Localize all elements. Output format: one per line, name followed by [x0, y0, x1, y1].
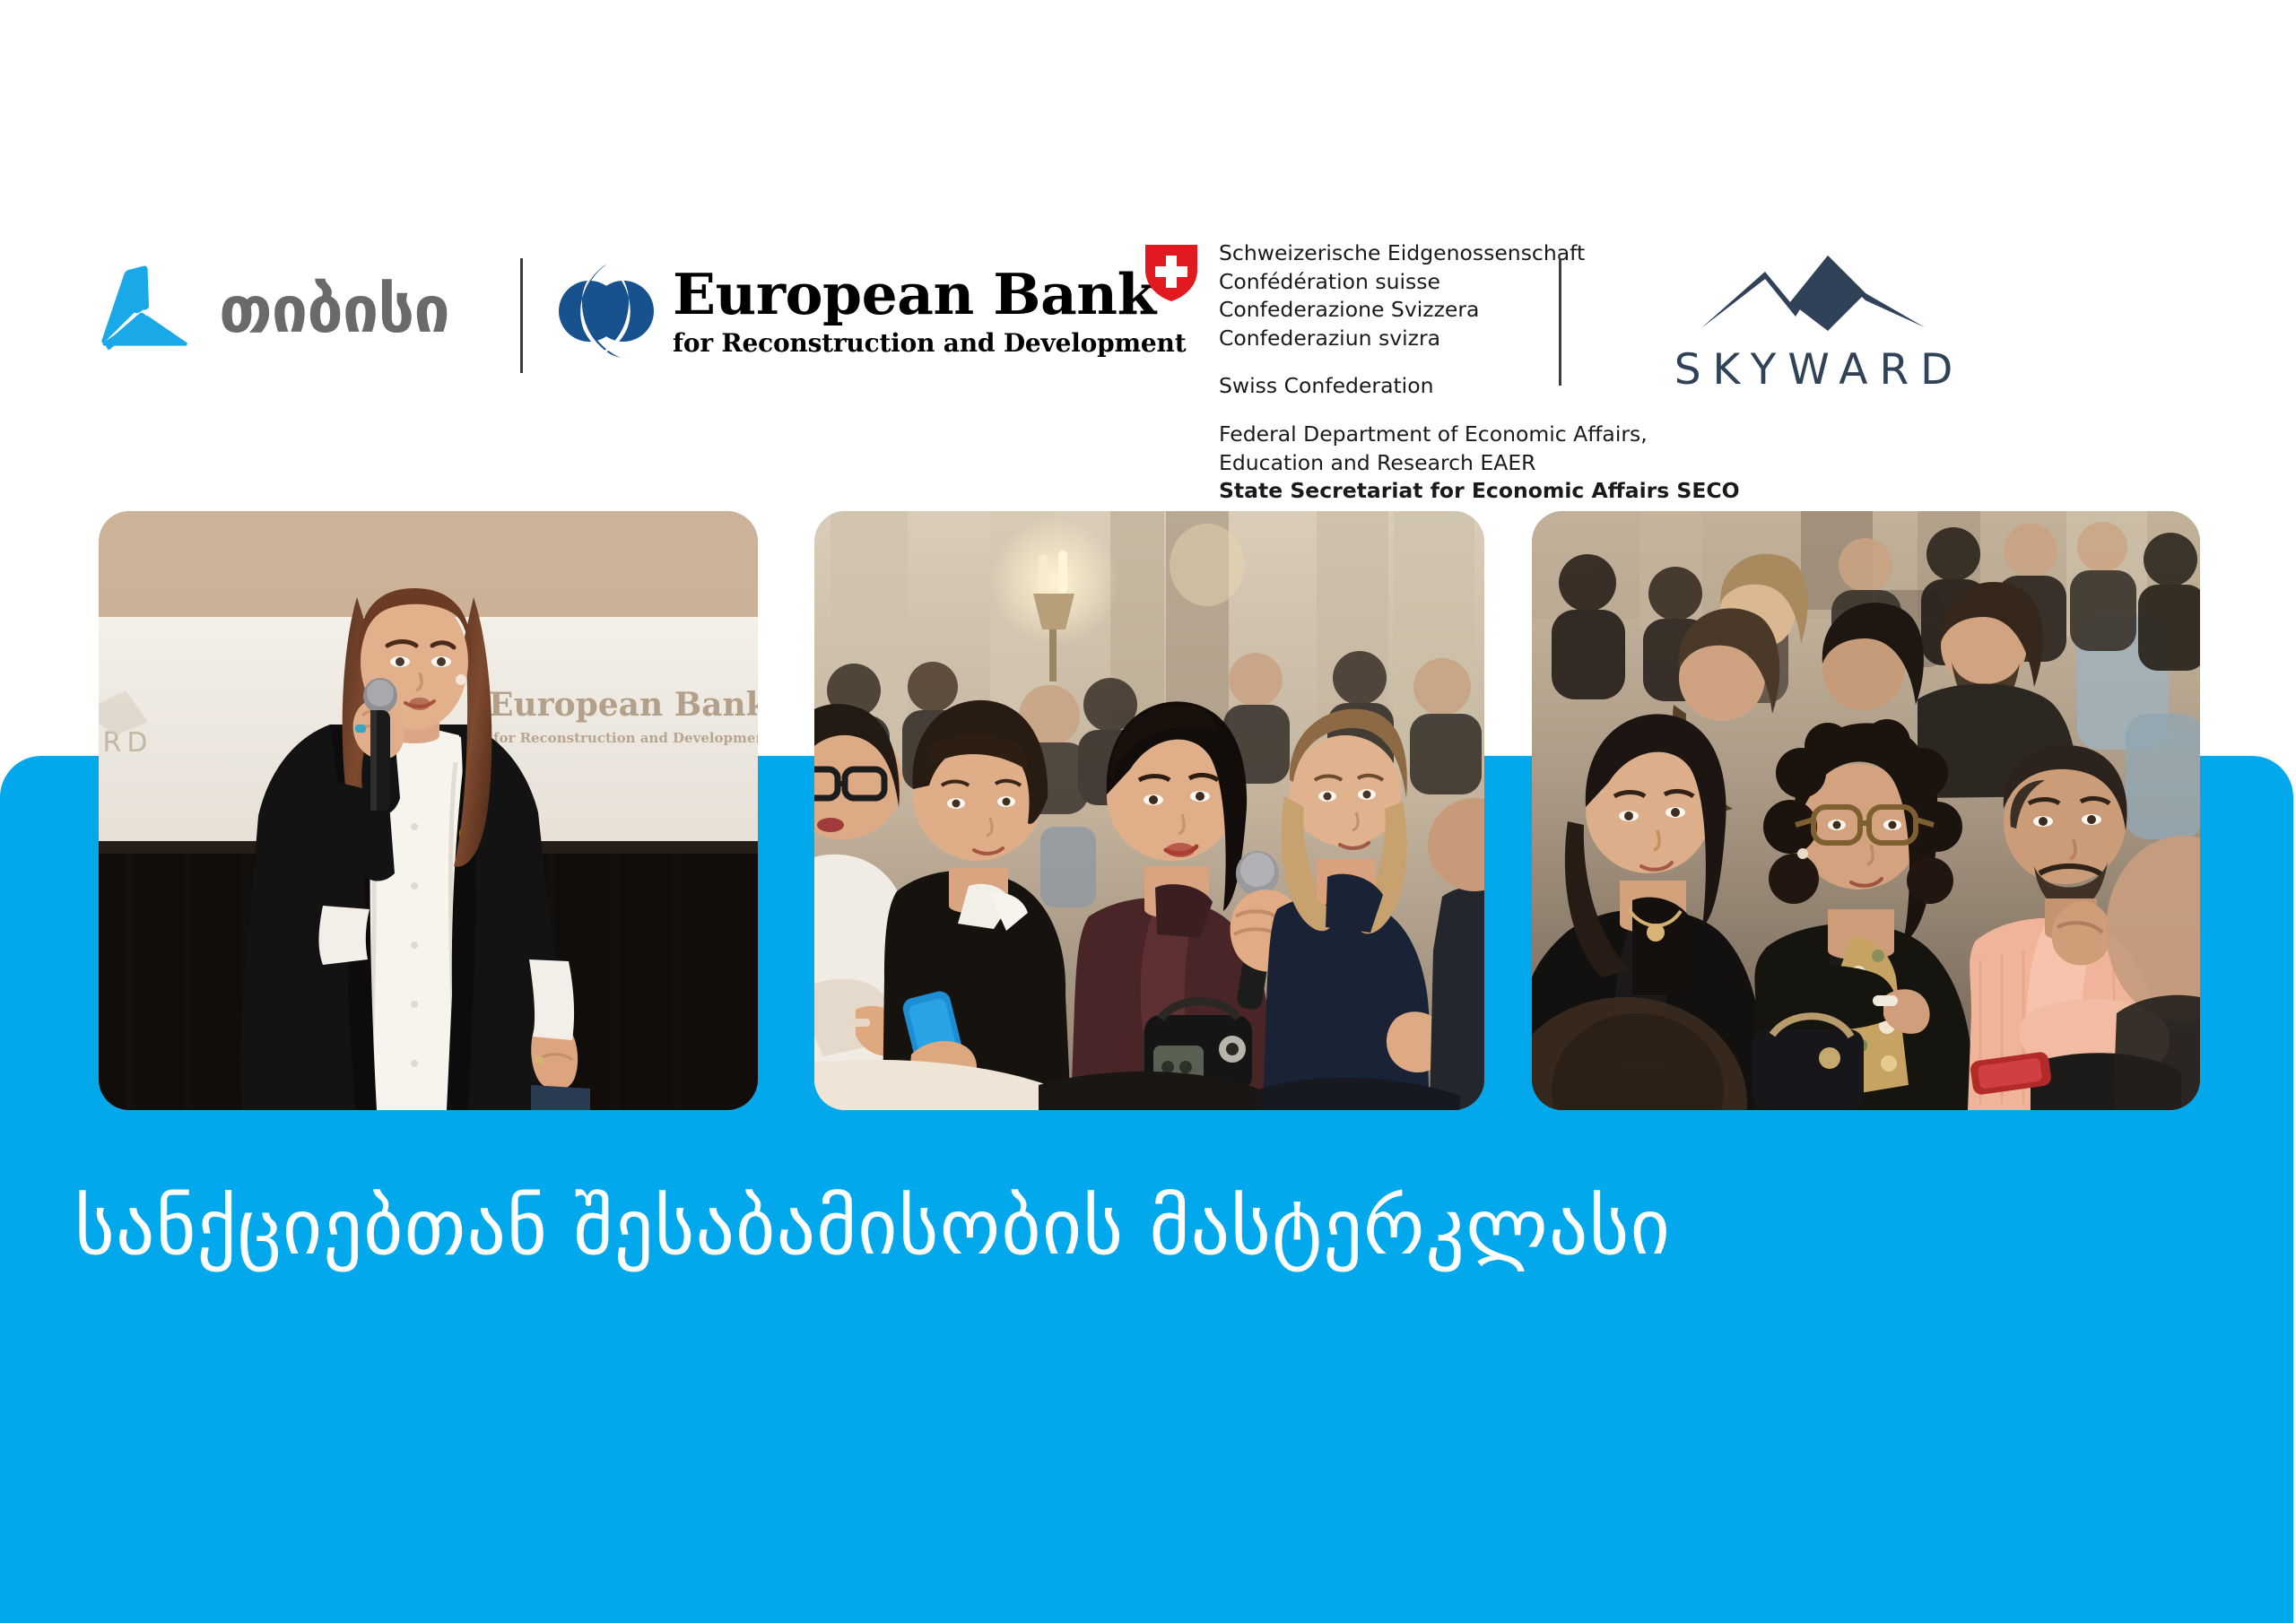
svg-text:European Bank: European Bank — [489, 686, 758, 724]
svg-text:ARD: ARD — [99, 727, 152, 759]
page-title: სანქციებთან შესაბამისობის მასტერკლასი — [74, 1180, 1671, 1277]
event-photo-row: European Bank for Reconstruction and Dev… — [0, 0, 2296, 1623]
photo-speaker: European Bank for Reconstruction and Dev… — [99, 511, 758, 1110]
photo-audience-2 — [1532, 511, 2200, 1110]
svg-text:for Reconstruction and Develop: for Reconstruction and Development — [493, 730, 758, 746]
photo-audience-1 — [814, 511, 1484, 1110]
